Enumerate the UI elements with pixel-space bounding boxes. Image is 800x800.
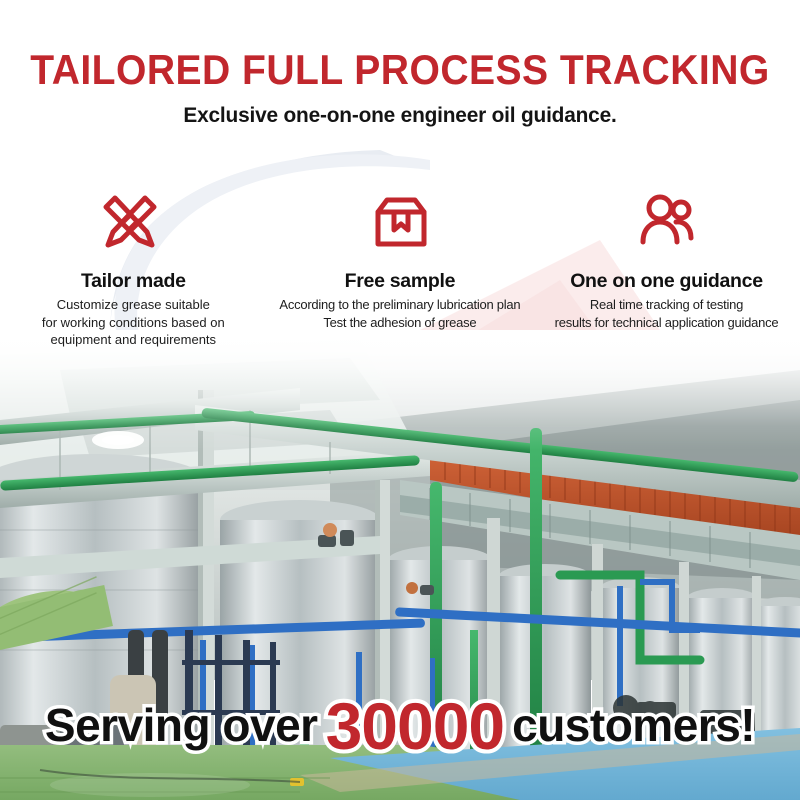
customers-count: 30000 bbox=[326, 693, 505, 759]
customers-banner: Serving over 30000 customers! bbox=[0, 690, 800, 760]
feature-description: Customize grease suitable for working co… bbox=[0, 296, 267, 347]
promo-banner: TAILORED FULL PROCESS TRACKING Exclusive… bbox=[0, 0, 800, 800]
feature-item-free-sample: Free sample According to the preliminary… bbox=[267, 186, 534, 348]
page-subtitle: Exclusive one-on-one engineer oil guidan… bbox=[12, 104, 788, 128]
ruler-pencil-icon bbox=[0, 186, 267, 258]
customers-banner-suffix: customers! bbox=[512, 702, 755, 748]
feature-list: Tailor made Customize grease suitable fo… bbox=[0, 186, 800, 348]
customers-banner-prefix: Serving over bbox=[45, 702, 318, 748]
feature-description: According to the preliminary lubrication… bbox=[267, 296, 534, 330]
feature-item-one-on-one-guidance: One on one guidance Real time tracking o… bbox=[533, 186, 800, 348]
feature-item-tailor-made: Tailor made Customize grease suitable fo… bbox=[0, 186, 267, 348]
two-people-icon bbox=[533, 186, 800, 258]
feature-description: Real time tracking of testing results fo… bbox=[533, 296, 800, 330]
package-box-icon bbox=[269, 186, 534, 258]
header: TAILORED FULL PROCESS TRACKING Exclusive… bbox=[0, 0, 800, 128]
feature-title: Free sample bbox=[267, 270, 534, 292]
feature-title: Tailor made bbox=[0, 270, 267, 292]
page-title: TAILORED FULL PROCESS TRACKING bbox=[28, 49, 772, 91]
feature-title: One on one guidance bbox=[533, 270, 800, 292]
